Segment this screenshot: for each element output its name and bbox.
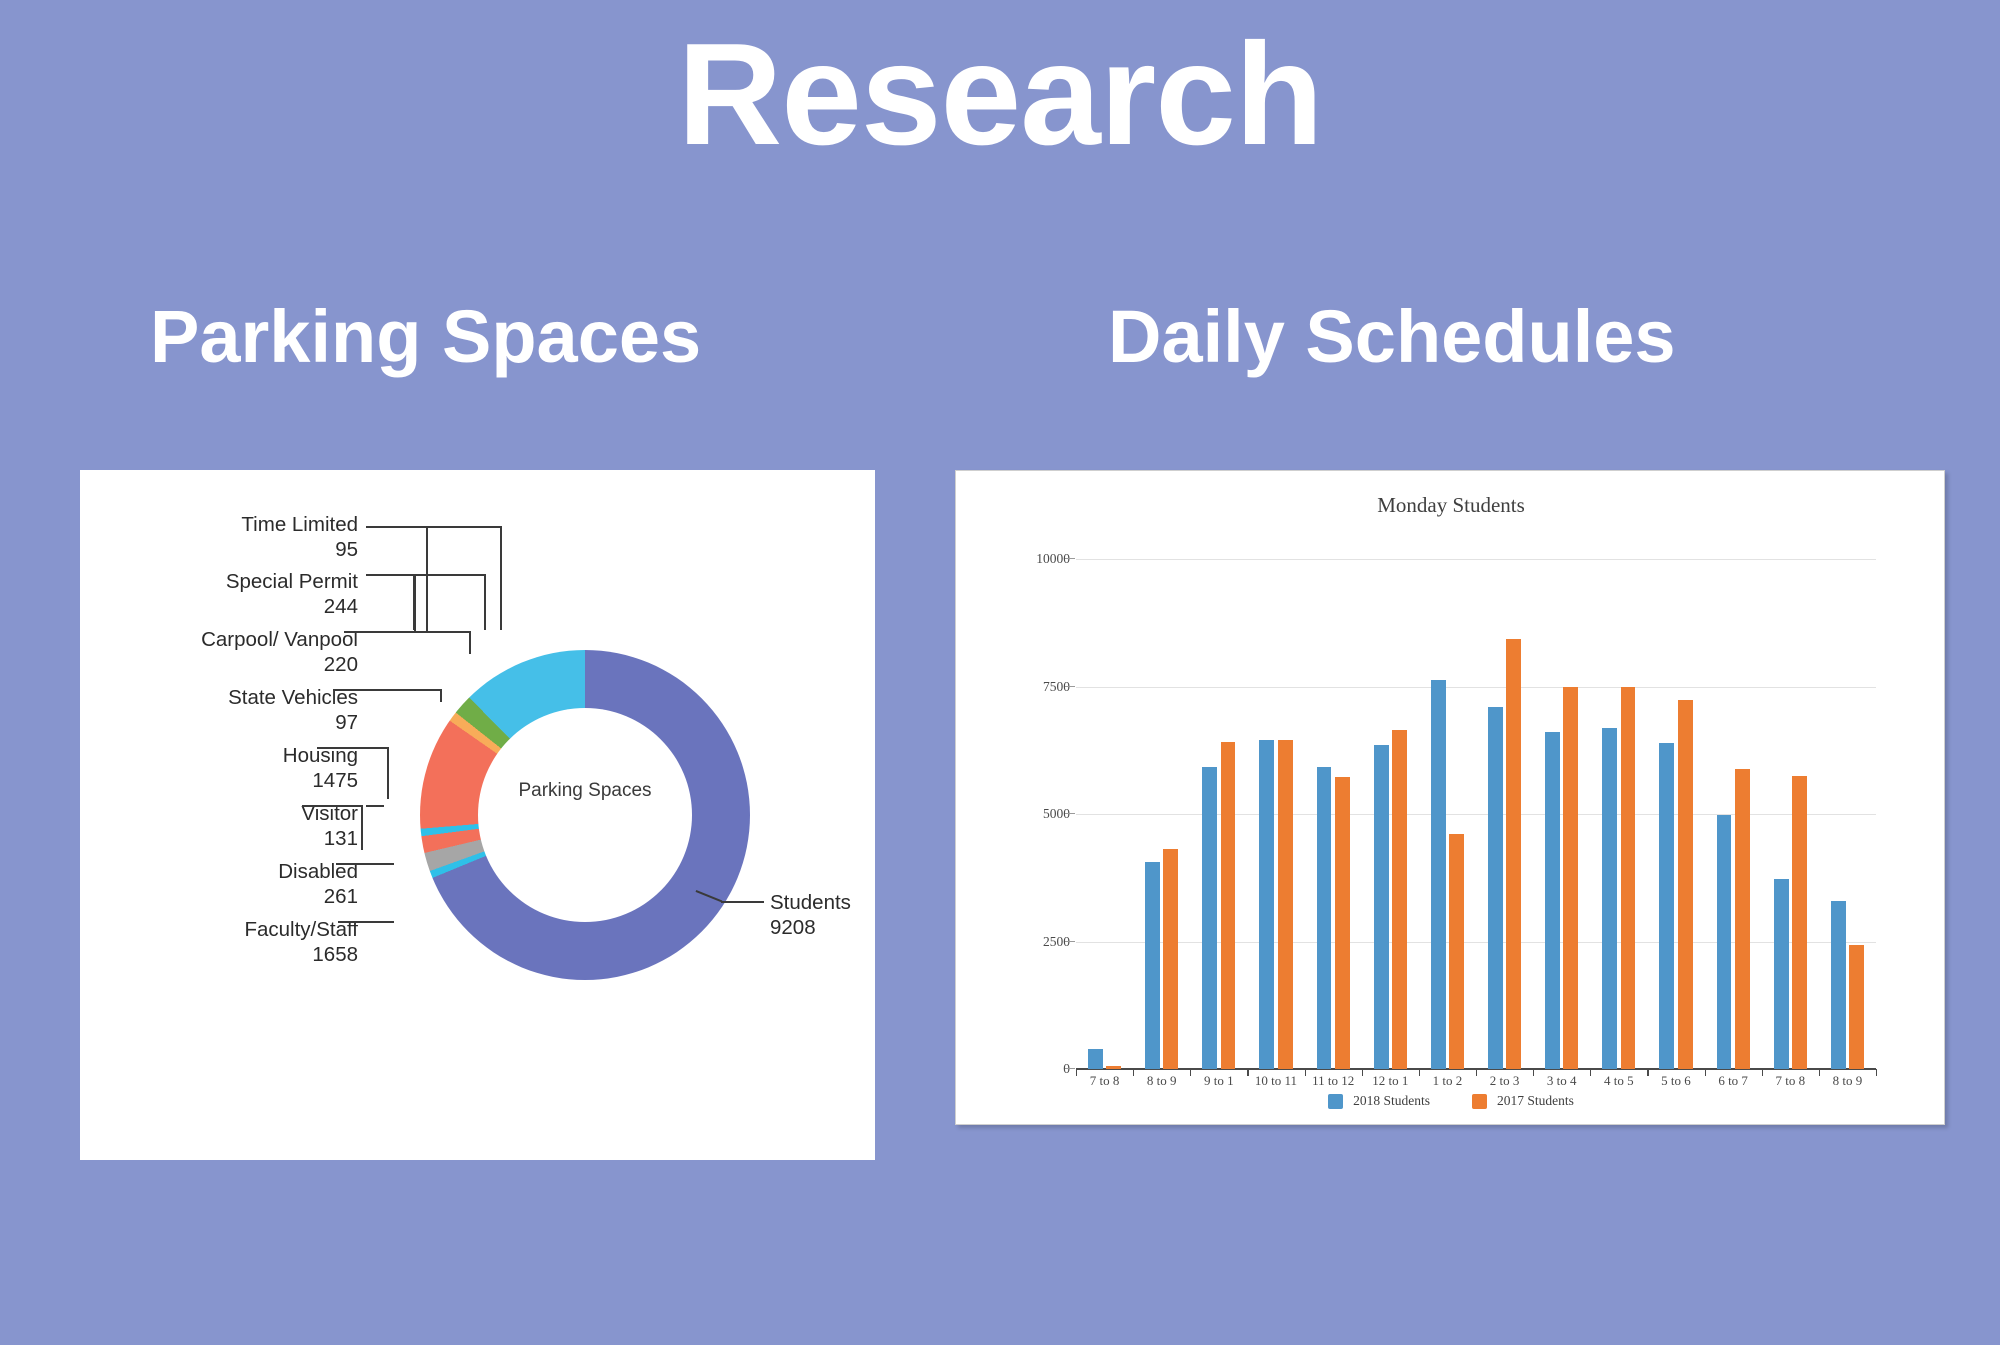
legend-label-2018: 2018 Students: [1353, 1093, 1430, 1109]
left-panel-title: Parking Spaces: [150, 300, 701, 374]
leader-line: [366, 805, 384, 807]
bar-2018-students[interactable]: [1602, 728, 1617, 1069]
donut-label-name: Special Permit: [226, 570, 358, 593]
leader-vertical-housing: [387, 747, 389, 799]
donut-label-name: Students: [770, 891, 851, 914]
bar-2017-students[interactable]: [1163, 849, 1178, 1069]
parking-spaces-chart-card: Time Limited 95 Special Permit 244 Carpo…: [80, 470, 875, 1160]
leader-line: [366, 863, 394, 865]
donut-label-students: Students 9208: [770, 890, 851, 940]
leader-path: [426, 526, 501, 528]
legend-item-2018[interactable]: 2018 Students: [1328, 1093, 1430, 1109]
bar-2017-students[interactable]: [1449, 834, 1464, 1069]
legend-swatch-2017: [1472, 1094, 1487, 1109]
bar-2017-students[interactable]: [1106, 1066, 1121, 1069]
leader-path: [333, 689, 393, 691]
bar-group: [1419, 559, 1476, 1069]
x-axis-tick-label: 8 to 9: [1133, 1073, 1190, 1089]
bar-2018-students[interactable]: [1545, 732, 1560, 1069]
donut-label-housing: Housing 1475: [283, 743, 358, 793]
x-axis-tick-label: 1 to 2: [1419, 1073, 1476, 1089]
bar-2018-students[interactable]: [1374, 745, 1389, 1069]
donut-center-label: Parking Spaces: [420, 780, 750, 802]
x-axis-tick-label: 11 to 12: [1305, 1073, 1362, 1089]
x-axis-tick-label: 12 to 1: [1362, 1073, 1419, 1089]
donut-label-value: 97: [228, 710, 358, 735]
leader-path: [338, 921, 370, 923]
bar-2018-students[interactable]: [1088, 1049, 1103, 1069]
donut-label-value: 95: [241, 537, 358, 562]
donut-label-value: 1658: [244, 942, 358, 967]
x-axis-tick-label: 9 to 1: [1190, 1073, 1247, 1089]
leader-vertical-special-permit: [484, 574, 486, 630]
leader-vertical-time-limited: [500, 526, 502, 630]
bar-chart-title: Monday Students: [956, 493, 1946, 518]
bar-group: [1305, 559, 1362, 1069]
x-axis-tick-label: 10 to 11: [1247, 1073, 1304, 1089]
legend-swatch-2018: [1328, 1094, 1343, 1109]
bar-2018-students[interactable]: [1202, 767, 1217, 1069]
bar-2017-students[interactable]: [1392, 730, 1407, 1069]
bar-2017-students[interactable]: [1335, 777, 1350, 1069]
right-panel-title: Daily Schedules: [1108, 300, 1676, 374]
x-axis-tick-label: 5 to 6: [1647, 1073, 1704, 1089]
bar-2017-students[interactable]: [1849, 945, 1864, 1069]
x-axis-tick-label: 3 to 4: [1533, 1073, 1590, 1089]
bar-group: [1647, 559, 1704, 1069]
bar-group: [1819, 559, 1876, 1069]
y-axis-tickmark: [1065, 686, 1075, 687]
bar-2018-students[interactable]: [1659, 743, 1674, 1069]
bar-group: [1076, 559, 1133, 1069]
leader-vertical-visitor: [361, 805, 363, 850]
leader-path: [336, 863, 370, 865]
x-axis-tick-label: 8 to 9: [1819, 1073, 1876, 1089]
bar-group: [1190, 559, 1247, 1069]
bar-2017-students[interactable]: [1278, 740, 1293, 1069]
legend-label-2017: 2017 Students: [1497, 1093, 1574, 1109]
bar-2018-students[interactable]: [1259, 740, 1274, 1069]
page-title: Research: [0, 22, 2000, 167]
bar-2018-students[interactable]: [1431, 680, 1446, 1069]
bar-group: [1476, 559, 1533, 1069]
bar-2017-students[interactable]: [1221, 742, 1236, 1069]
bar-2017-students[interactable]: [1506, 639, 1521, 1069]
y-axis-tickmark: [1065, 1068, 1075, 1069]
bar-2017-students[interactable]: [1678, 700, 1693, 1069]
donut-label-faculty-staff: Faculty/Staff 1658: [244, 917, 358, 967]
bar-group: [1533, 559, 1590, 1069]
x-axis-tick-label: 4 to 5: [1590, 1073, 1647, 1089]
leader-path: [302, 805, 362, 807]
leader-path: [413, 574, 485, 576]
leader-path: [317, 747, 388, 749]
donut-label-name: Time Limited: [241, 513, 358, 536]
bar-2017-students[interactable]: [1735, 769, 1750, 1069]
bar-chart-legend: 2018 Students 2017 Students: [956, 1093, 1946, 1109]
bar-group: [1590, 559, 1647, 1069]
y-axis-tickmark: [1065, 941, 1075, 942]
x-axis-tick-label: 2 to 3: [1476, 1073, 1533, 1089]
bar-2018-students[interactable]: [1774, 879, 1789, 1069]
leader-line: [366, 921, 394, 923]
leader-students: [721, 901, 764, 903]
bar-chart-plot: 0250050007500100007 to 88 to 99 to 110 t…: [1076, 559, 1876, 1069]
x-axis-tick-label: 6 to 7: [1705, 1073, 1762, 1089]
donut-hole: [478, 708, 692, 922]
bar-2018-students[interactable]: [1317, 767, 1332, 1069]
y-axis-tickmark: [1065, 558, 1075, 559]
bar-group: [1762, 559, 1819, 1069]
legend-item-2017[interactable]: 2017 Students: [1472, 1093, 1574, 1109]
leader-path: [344, 631, 401, 633]
y-axis-tickmark: [1065, 813, 1075, 814]
bar-2018-students[interactable]: [1831, 901, 1846, 1069]
daily-schedules-chart-card: Monday Students 0250050007500100007 to 8…: [955, 470, 1945, 1125]
bar-group: [1705, 559, 1762, 1069]
parking-spaces-donut: Parking Spaces: [420, 650, 750, 980]
bar-2018-students[interactable]: [1717, 815, 1732, 1069]
x-axis-tickmark: [1876, 1069, 1877, 1076]
donut-label-time-limited: Time Limited 95: [241, 512, 358, 562]
bar-group: [1362, 559, 1419, 1069]
donut-label-visitor: Visitor 131: [301, 801, 358, 851]
leader-line: [366, 526, 428, 528]
bar-group: [1133, 559, 1190, 1069]
bar-group: [1247, 559, 1304, 1069]
donut-label-disabled: Disabled 261: [278, 859, 358, 909]
bar-2018-students[interactable]: [1145, 862, 1160, 1069]
x-axis-tick-label: 7 to 8: [1076, 1073, 1133, 1089]
x-axis-tick-label: 7 to 8: [1762, 1073, 1819, 1089]
donut-label-special-permit: Special Permit 244: [226, 569, 358, 619]
leader-elbow: [414, 574, 416, 631]
bar-2018-students[interactable]: [1488, 707, 1503, 1069]
donut-label-state-vehicles: State Vehicles 97: [228, 685, 358, 735]
donut-label-value: 261: [278, 884, 358, 909]
donut-label-value: 1475: [283, 768, 358, 793]
leader-path: [400, 631, 470, 633]
leader-line: [366, 574, 414, 576]
bar-2017-students[interactable]: [1621, 687, 1636, 1069]
leader-elbow: [426, 526, 428, 631]
donut-label-value: 131: [301, 826, 358, 851]
donut-label-value: 220: [201, 652, 358, 677]
bar-2017-students[interactable]: [1792, 776, 1807, 1069]
bar-2017-students[interactable]: [1563, 687, 1578, 1069]
donut-label-carpool-vanpool: Carpool/ Vanpool 220: [201, 627, 358, 677]
donut-label-value: 244: [226, 594, 358, 619]
donut-label-name: Carpool/ Vanpool: [201, 628, 358, 651]
donut-label-value: 9208: [770, 915, 851, 940]
